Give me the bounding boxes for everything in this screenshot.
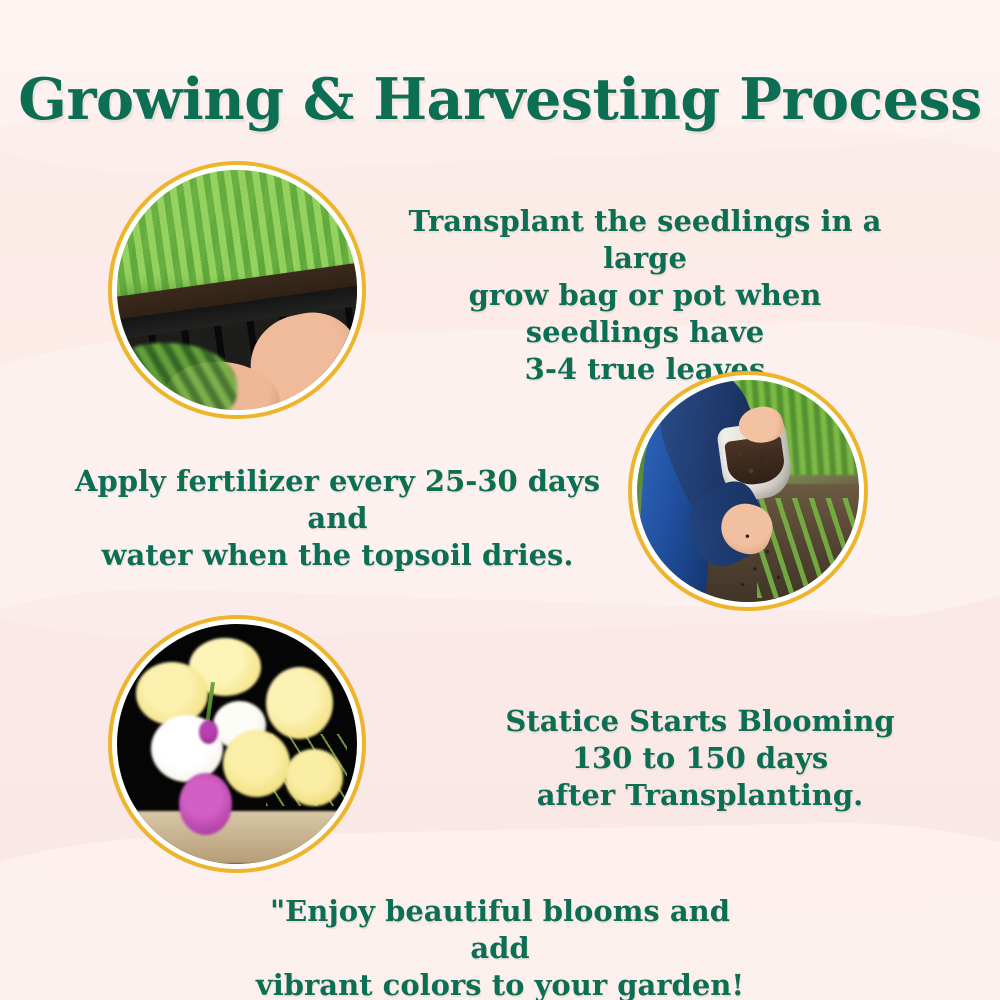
caption-fertilize: Apply fertilizer every 25-30 days and wa…	[55, 463, 620, 574]
photo-fertilizing	[628, 371, 868, 611]
yellow-bloom-3	[266, 667, 333, 739]
caption-fertilize-line-2: water when the topsoil dries.	[55, 537, 620, 574]
caption-transplant-line-1: Transplant the seedlings in a large	[390, 203, 900, 277]
scattered-granules	[735, 522, 797, 593]
yellow-bloom-4	[223, 730, 290, 797]
caption-transplant: Transplant the seedlings in a large grow…	[390, 203, 900, 388]
photo-seedling-tray	[108, 161, 366, 419]
yellow-bloom-5	[285, 749, 343, 807]
infographic-poster: Growing & Harvesting Process Transplant …	[0, 0, 1000, 1000]
photo-fertilizing-frame	[637, 380, 859, 602]
caption-fertilize-line-1: Apply fertilizer every 25-30 days and	[55, 463, 620, 537]
photo-statice-flowers	[108, 615, 366, 873]
page-title: Growing & Harvesting Process	[0, 66, 1000, 133]
table-surface	[117, 811, 357, 864]
caption-blooming-line-3: after Transplanting.	[480, 777, 920, 814]
caption-blooming-line-1: Statice Starts Blooming	[480, 703, 920, 740]
photo-statice-flowers-frame	[117, 624, 357, 864]
caption-transplant-line-2: grow bag or pot when seedlings have	[390, 277, 900, 351]
closing-note-line-2: vibrant colors to your garden!	[240, 967, 760, 1000]
caption-blooming-line-2: 130 to 150 days	[480, 740, 920, 777]
purple-bloom-2	[199, 720, 218, 744]
closing-note-line-1: "Enjoy beautiful blooms and add	[240, 893, 760, 967]
photo-seedling-tray-frame	[117, 170, 357, 410]
purple-bloom-1	[179, 773, 232, 835]
closing-note: "Enjoy beautiful blooms and add vibrant …	[240, 893, 760, 1000]
caption-blooming: Statice Starts Blooming 130 to 150 days …	[480, 703, 920, 814]
